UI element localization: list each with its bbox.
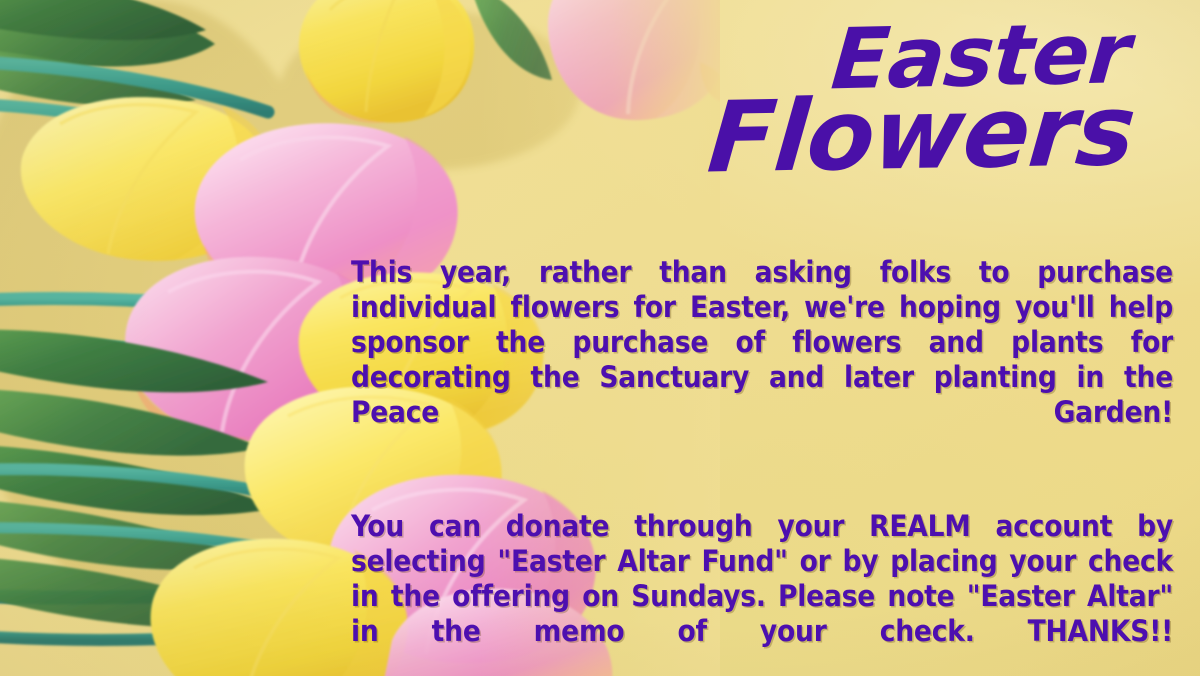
paragraph-sponsor-appeal: This year, rather than asking folks to p… (351, 255, 1173, 465)
title-line-flowers: Flowers (611, 86, 1140, 186)
body-copy: This year, rather than asking folks to p… (351, 255, 1173, 676)
page-title: Easter Flowers (612, 14, 1132, 177)
poster-canvas: Easter Flowers This year, rather than as… (0, 0, 1200, 676)
paragraph-donation-instructions: You can donate through your REALM accoun… (351, 509, 1173, 676)
